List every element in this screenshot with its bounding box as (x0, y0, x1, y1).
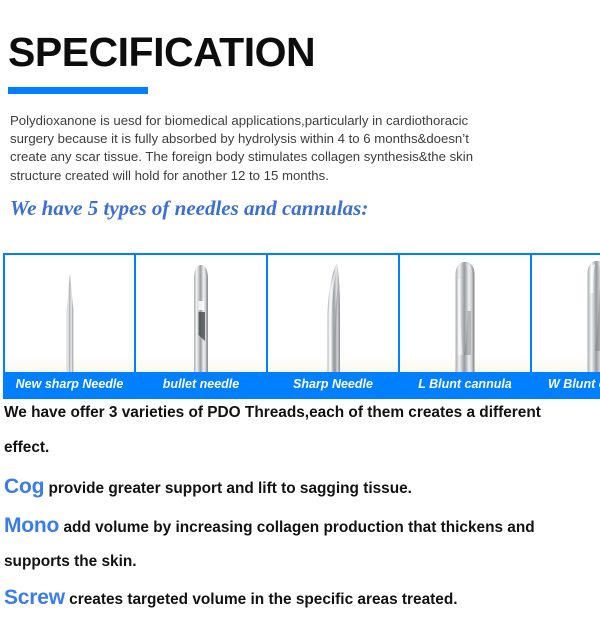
needle-caption: L Blunt cannula (400, 372, 530, 397)
title-block: SPECIFICATION (0, 0, 600, 94)
w-blunt-cannula-icon (532, 255, 600, 372)
copy-line-text: We have offer 3 varieties of PDO Threads… (4, 404, 541, 421)
title-accent-bar (8, 87, 148, 94)
thread-keyword-mono: Mono (4, 514, 59, 537)
copy-line-text: effect. (4, 439, 49, 456)
needle-caption: Sharp Needle (268, 372, 398, 397)
needle-cell: Sharp Needle (267, 253, 399, 399)
needle-cell: L Blunt cannula (399, 253, 531, 399)
sharp-taper-needle-icon (5, 255, 134, 372)
lancet-bevel-needle-icon (268, 255, 398, 372)
copy-line-text: provide greater support and lift to sagg… (49, 480, 412, 497)
needle-caption: bullet needle (136, 372, 266, 397)
needle-types-heading: We have 5 types of needles and cannulas: (0, 185, 600, 221)
copy-line: We have offer 3 varieties of PDO Threads… (4, 405, 600, 440)
intro-paragraph: Polydioxanone is uesd for biomedical app… (0, 94, 484, 185)
copy-line: supports the skin. (4, 554, 600, 587)
needle-caption: W Blunt cannula (532, 372, 600, 397)
page-title: SPECIFICATION (8, 0, 600, 73)
needle-cell: bullet needle (135, 253, 267, 399)
copy-line-text: creates targeted volume in the specific … (69, 591, 457, 608)
copy-line-mono: Mono add volume by increasing collagen p… (4, 515, 600, 554)
specification-page: SPECIFICATION Polydioxanone is uesd for … (0, 0, 600, 624)
copy-line-text: supports the skin. (4, 553, 137, 570)
bullet-tip-needle-icon (136, 255, 266, 372)
thread-types-copy: We have offer 3 varieties of PDO Threads… (4, 405, 600, 624)
copy-line-text: add volume by increasing collagen produc… (63, 519, 534, 536)
copy-line: effect. (4, 440, 600, 475)
thread-keyword-cog: Cog (4, 475, 44, 498)
needle-cell: W Blunt cannula (531, 253, 600, 399)
thread-keyword-screw: Screw (4, 586, 65, 609)
copy-line-screw: Screw creates targeted volume in the spe… (4, 587, 600, 624)
needle-cell: New sharp Needle (3, 253, 135, 399)
needle-grid: New sharp Needle (3, 253, 600, 399)
l-blunt-cannula-icon (400, 255, 530, 372)
needle-caption: New sharp Needle (5, 372, 134, 397)
copy-line-cog: Cog provide greater support and lift to … (4, 476, 600, 515)
